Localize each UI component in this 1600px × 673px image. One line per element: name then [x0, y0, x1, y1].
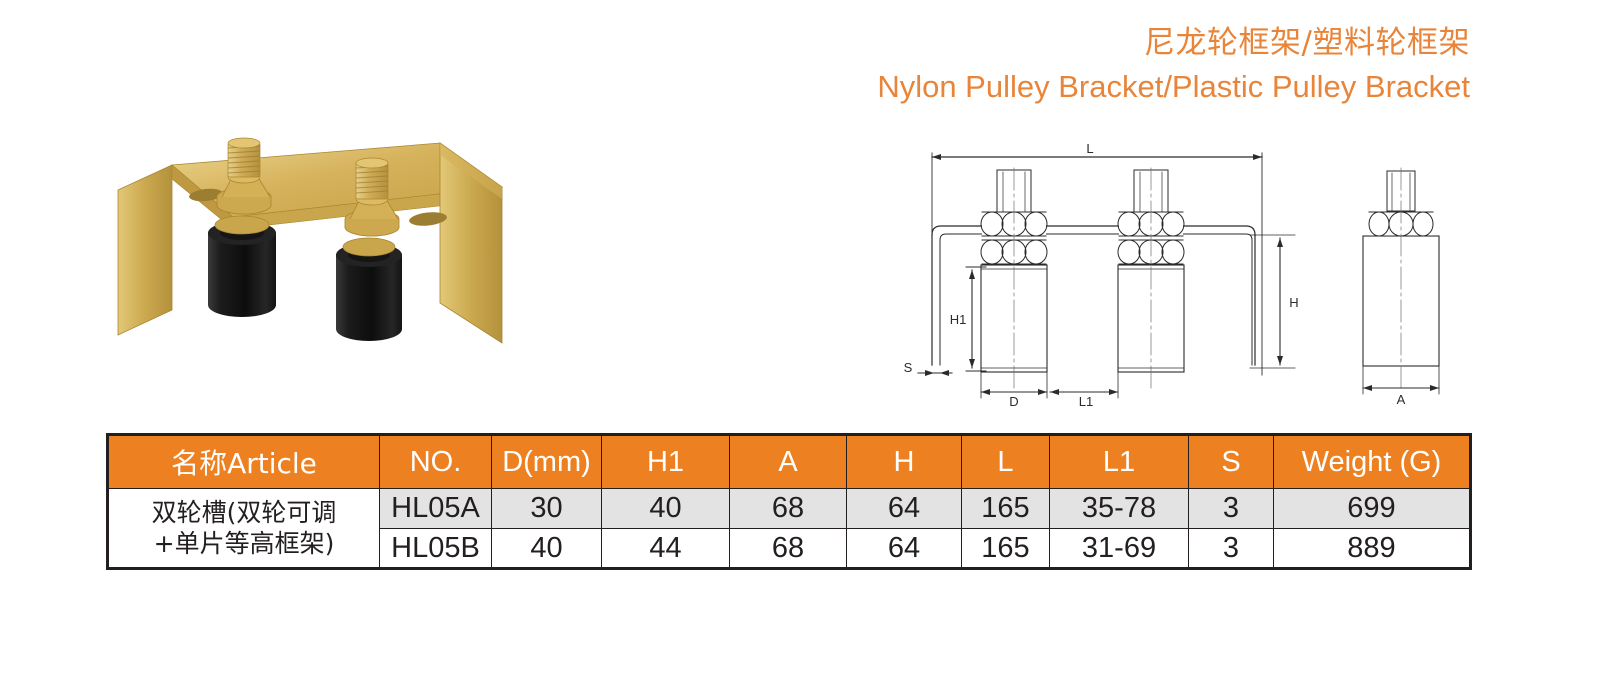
dim-label-L: L: [1086, 141, 1093, 156]
column-header-no: NO.: [380, 435, 492, 489]
column-header-s: S: [1189, 435, 1274, 489]
title-english: Nylon Pulley Bracket/Plastic Pulley Brac…: [877, 71, 1470, 102]
dim-label-A: A: [1397, 392, 1406, 407]
dim-label-H1: H1: [950, 312, 967, 327]
column-header-h1: H1: [602, 435, 730, 489]
spec-table: 名称Article NO. D(mm) H1 A H L L1 S Weight…: [106, 433, 1472, 570]
technical-drawing: L H1 S D L1 H A: [890, 140, 1490, 410]
column-header-d: D(mm): [492, 435, 602, 489]
article-name-line1: 双轮槽(双轮可调: [113, 497, 375, 528]
title-chinese: 尼龙轮框架/塑料轮框架: [877, 28, 1470, 59]
cell-d: 40: [492, 529, 602, 569]
column-header-l1: L1: [1050, 435, 1189, 489]
table-row: 双轮槽(双轮可调 +单片等高框架) HL05A 30 40 68 64 165 …: [108, 489, 1471, 529]
column-header-l: L: [962, 435, 1050, 489]
dim-label-S: S: [904, 360, 913, 375]
cell-h1: 40: [602, 489, 730, 529]
cell-h: 64: [847, 529, 962, 569]
product-photo: [110, 125, 510, 410]
cell-l: 165: [962, 529, 1050, 569]
cell-l1: 35-78: [1050, 489, 1189, 529]
cell-a: 68: [730, 489, 847, 529]
article-name-line2: +单片等高框架): [113, 528, 375, 559]
cell-h1: 44: [602, 529, 730, 569]
cell-no: HL05A: [380, 489, 492, 529]
column-header-a: A: [730, 435, 847, 489]
column-header-article: 名称Article: [108, 435, 380, 489]
column-header-weight: Weight (G): [1274, 435, 1471, 489]
cell-no: HL05B: [380, 529, 492, 569]
article-name-cell: 双轮槽(双轮可调 +单片等高框架): [108, 489, 380, 569]
column-header-h: H: [847, 435, 962, 489]
page-title: 尼龙轮框架/塑料轮框架 Nylon Pulley Bracket/Plastic…: [877, 28, 1470, 102]
cell-weight: 889: [1274, 529, 1471, 569]
dim-label-D: D: [1009, 394, 1018, 409]
product-photo-illustration: [110, 125, 510, 410]
cell-s: 3: [1189, 529, 1274, 569]
table-header-row: 名称Article NO. D(mm) H1 A H L L1 S Weight…: [108, 435, 1471, 489]
cell-d: 30: [492, 489, 602, 529]
cell-l1: 31-69: [1050, 529, 1189, 569]
dim-label-H: H: [1289, 295, 1298, 310]
cell-weight: 699: [1274, 489, 1471, 529]
cell-h: 64: [847, 489, 962, 529]
technical-drawing-svg: L H1 S D L1 H A: [890, 140, 1490, 410]
cell-l: 165: [962, 489, 1050, 529]
spec-table-container: 名称Article NO. D(mm) H1 A H L L1 S Weight…: [106, 433, 1469, 570]
dim-label-L1: L1: [1079, 394, 1093, 409]
cell-s: 3: [1189, 489, 1274, 529]
cell-a: 68: [730, 529, 847, 569]
